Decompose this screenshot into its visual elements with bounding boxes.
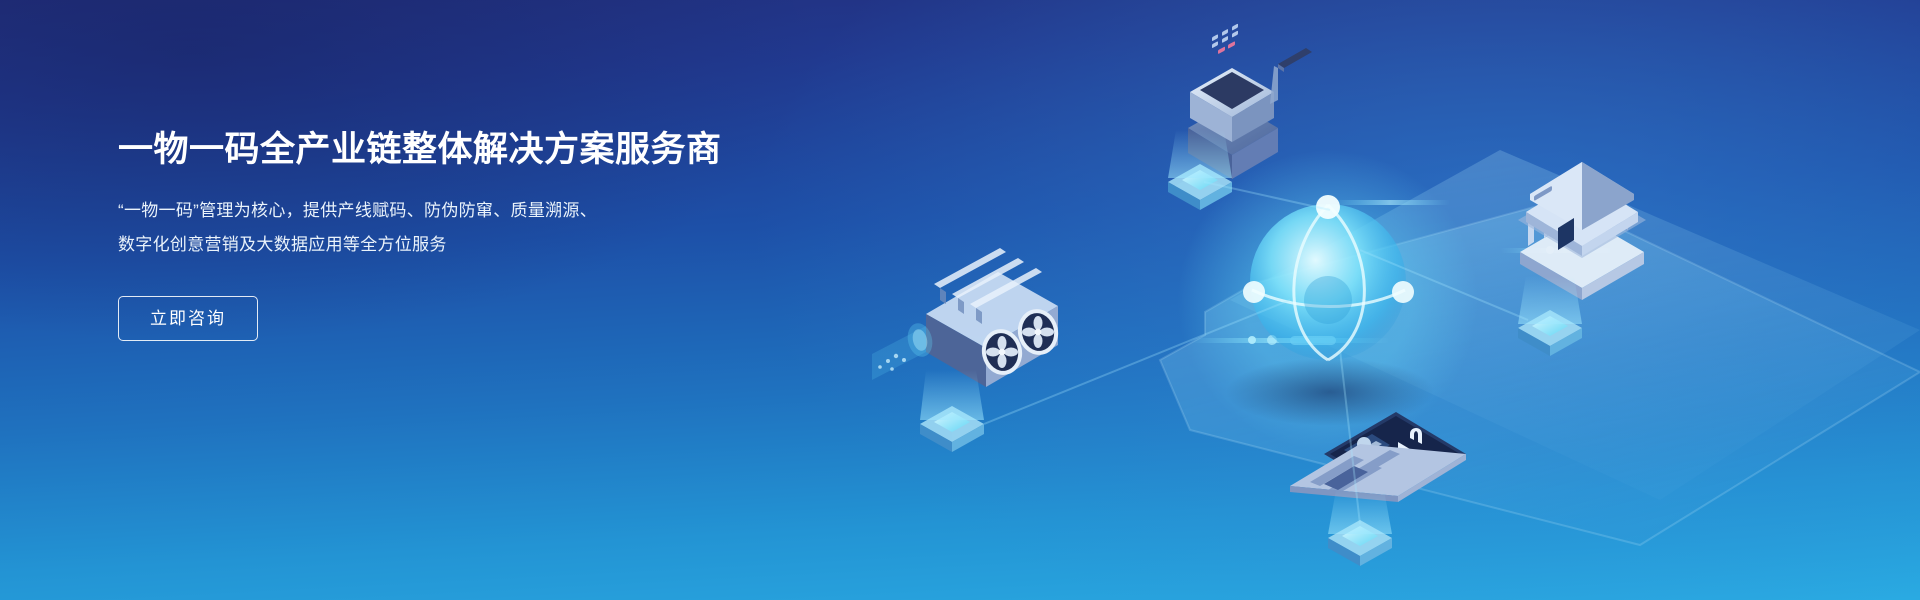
- hero-copy-block: 一物一码全产业链整体解决方案服务商 “一物一码”管理为核心，提供产线赋码、防伪防…: [118, 128, 818, 341]
- hero-subtitle-line-2: 数字化创意营销及大数据应用等全方位服务: [118, 235, 447, 254]
- hero-subtitle: “一物一码”管理为核心，提供产线赋码、防伪防窜、质量溯源、 数字化创意营销及大数…: [118, 194, 678, 262]
- hero-illustration: [860, 0, 1920, 600]
- consult-now-button[interactable]: 立即咨询: [118, 296, 258, 341]
- hero-banner: 一物一码全产业链整体解决方案服务商 “一物一码”管理为核心，提供产线赋码、防伪防…: [0, 0, 1920, 600]
- hero-subtitle-line-1: “一物一码”管理为核心，提供产线赋码、防伪防窜、质量溯源、: [118, 201, 597, 220]
- server-rack-icon: [872, 248, 1062, 387]
- page-title: 一物一码全产业链整体解决方案服务商: [118, 128, 818, 172]
- pedestal-server: [920, 370, 984, 452]
- pedestal-laptop: [1328, 490, 1392, 566]
